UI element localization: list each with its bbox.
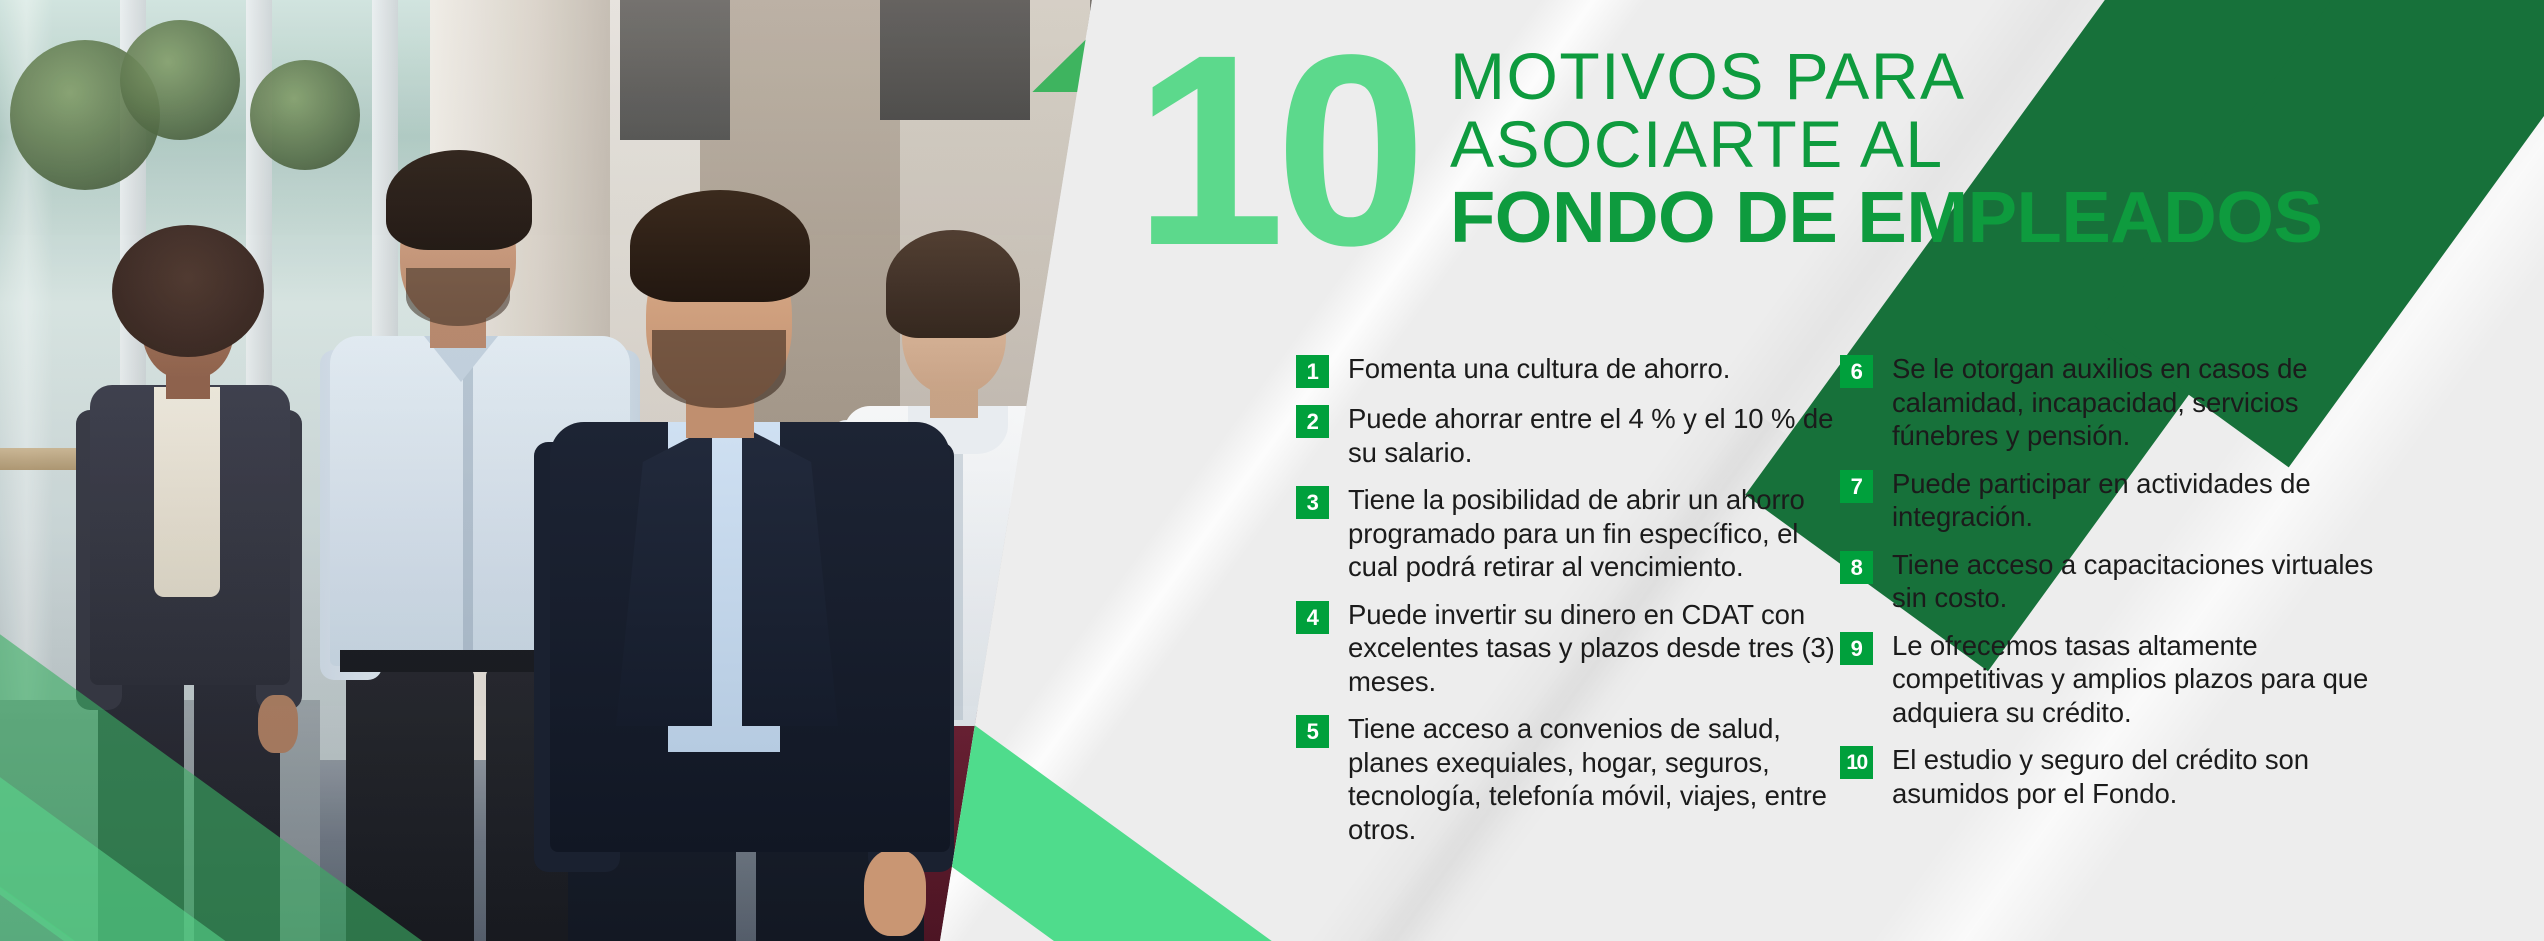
item-text: Se le otorgan auxilios en casos de calam…	[1892, 352, 2392, 453]
item-number-badge: 1	[1296, 355, 1329, 388]
headline-line-3: FONDO DE EMPLEADOS	[1450, 180, 2322, 256]
headline-line-1: MOTIVOS PARA	[1450, 42, 2297, 110]
item-text: Tiene la posibilidad de abrir un ahorro …	[1348, 483, 1848, 584]
person-woman-blazer	[70, 225, 330, 941]
reasons-column-left: 1 Fomenta una cultura de ahorro. 2 Puede…	[1296, 352, 1856, 860]
hair	[112, 225, 264, 357]
item-text: Le ofrecemos tasas altamente competitiva…	[1892, 629, 2392, 730]
person-man-navy-suit	[520, 190, 990, 941]
list-item: 1 Fomenta una cultura de ahorro.	[1296, 352, 1856, 388]
headline-block: 10 MOTIVOS PARA ASOCIARTE AL FONDO DE EM…	[1134, 28, 2534, 288]
beard	[406, 268, 510, 326]
hair	[386, 150, 532, 250]
reasons-columns: 1 Fomenta una cultura de ahorro. 2 Puede…	[1296, 352, 2516, 912]
hand	[864, 850, 926, 936]
item-number-badge: 10	[1840, 746, 1873, 779]
headline-number: 10	[1134, 14, 1417, 286]
item-text: Puede invertir su dinero en CDAT con exc…	[1348, 598, 1848, 699]
tree-foliage	[120, 20, 240, 140]
ceiling-fixture	[620, 0, 730, 140]
blouse-front	[154, 387, 220, 597]
hair	[630, 190, 810, 302]
item-text: Tiene acceso a capacitaciones virtuales …	[1892, 548, 2392, 615]
item-number-badge: 3	[1296, 486, 1329, 519]
item-number-badge: 2	[1296, 405, 1329, 438]
item-number-badge: 7	[1840, 470, 1873, 503]
item-number-badge: 9	[1840, 632, 1873, 665]
item-text: Tiene acceso a convenios de salud, plane…	[1348, 712, 1848, 846]
promo-banner: 10 MOTIVOS PARA ASOCIARTE AL FONDO DE EM…	[0, 0, 2544, 941]
item-text: El estudio y seguro del crédito son asum…	[1892, 743, 2392, 810]
item-text: Puede participar en actividades de integ…	[1892, 467, 2392, 534]
item-text: Puede ahorrar entre el 4 % y el 10 % de …	[1348, 402, 1848, 469]
list-item: 8 Tiene acceso a capacitaciones virtuale…	[1840, 548, 2400, 615]
list-item: 5 Tiene acceso a convenios de salud, pla…	[1296, 712, 1856, 846]
item-number-badge: 4	[1296, 601, 1329, 634]
headline-line-2: ASOCIARTE AL	[1450, 110, 2297, 178]
list-item: 2 Puede ahorrar entre el 4 % y el 10 % d…	[1296, 402, 1856, 469]
list-item: 7 Puede participar en actividades de int…	[1840, 467, 2400, 534]
item-number-badge: 6	[1840, 355, 1873, 388]
hand	[258, 695, 298, 753]
item-number-badge: 8	[1840, 551, 1873, 584]
ceiling-fixture-2	[880, 0, 1030, 120]
item-number-badge: 5	[1296, 715, 1329, 748]
leg	[346, 668, 474, 941]
shirt-placket	[463, 350, 473, 650]
list-item: 6 Se le otorgan auxilios en casos de cal…	[1840, 352, 2400, 453]
list-item: 10 El estudio y seguro del crédito son a…	[1840, 743, 2400, 810]
reasons-column-right: 6 Se le otorgan auxilios en casos de cal…	[1840, 352, 2400, 824]
headline-lines: MOTIVOS PARA ASOCIARTE AL FONDO DE EMPLE…	[1450, 42, 2297, 256]
list-item: 9 Le ofrecemos tasas altamente competiti…	[1840, 629, 2400, 730]
list-item: 4 Puede invertir su dinero en CDAT con e…	[1296, 598, 1856, 699]
list-item: 3 Tiene la posibilidad de abrir un ahorr…	[1296, 483, 1856, 584]
item-text: Fomenta una cultura de ahorro.	[1348, 352, 1730, 386]
beard	[652, 330, 786, 408]
